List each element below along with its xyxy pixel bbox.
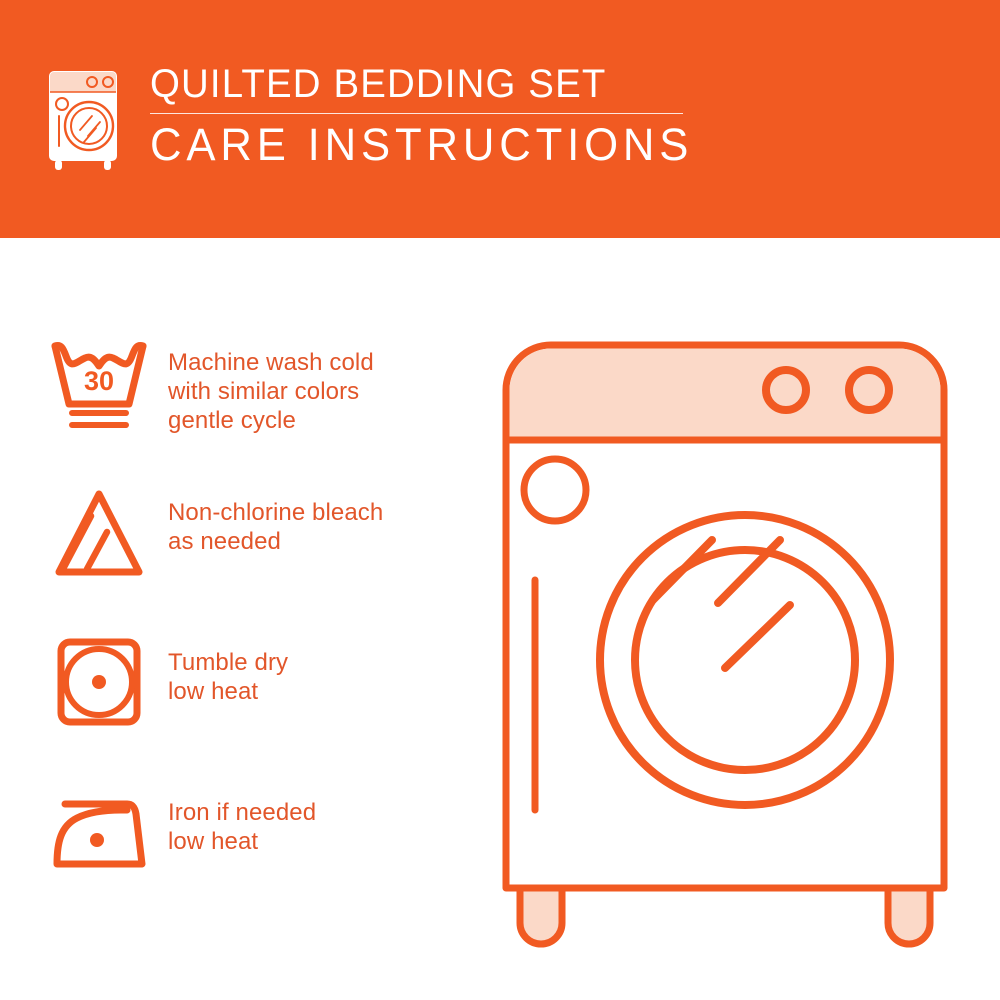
care-item-tumble-dry: Tumble dry low heat [44, 630, 474, 780]
title-block: QUILTED BEDDING SET CARE INSTRUCTIONS [150, 60, 710, 170]
header-content: QUILTED BEDDING SET CARE INSTRUCTIONS [44, 60, 710, 174]
title-divider [150, 113, 683, 114]
care-item-bleach: Non-chlorine bleach as needed [44, 480, 474, 630]
care-text-line: low heat [168, 677, 288, 706]
care-text-line: Tumble dry [168, 648, 288, 677]
care-item-machine-wash: 30 Machine wash cold with similar colors… [44, 330, 474, 480]
care-item-machine-wash-label: Machine wash cold with similar colors ge… [168, 330, 374, 435]
care-text-line: with similar colors [168, 377, 374, 406]
care-text-line: as needed [168, 527, 383, 556]
iron-low-heat-icon [44, 780, 154, 882]
wash-tub-30-gentle-icon: 30 [44, 330, 154, 432]
care-instruction-list: 30 Machine wash cold with similar colors… [44, 330, 474, 930]
page-title: QUILTED BEDDING SET [150, 62, 688, 106]
triangle-non-chlorine-bleach-icon [44, 480, 154, 582]
care-item-tumble-dry-label: Tumble dry low heat [168, 630, 288, 706]
care-instructions-infographic: QUILTED BEDDING SET CARE INSTRUCTIONS 30 [0, 0, 1000, 1000]
care-item-iron-label: Iron if needed low heat [168, 780, 316, 856]
care-text-line: Non-chlorine bleach [168, 498, 383, 527]
care-text-line: Iron if needed [168, 798, 316, 827]
control-panel [510, 349, 941, 441]
washing-machine-icon [44, 66, 128, 174]
care-item-bleach-label: Non-chlorine bleach as needed [168, 480, 383, 556]
tumble-dry-low-heat-icon [44, 630, 154, 732]
page-subtitle: CARE INSTRUCTIONS [150, 120, 693, 170]
front-load-washing-machine-illustration [490, 325, 980, 955]
care-text-line: gentle cycle [168, 406, 374, 435]
care-text-line: low heat [168, 827, 316, 856]
header-banner: QUILTED BEDDING SET CARE INSTRUCTIONS [0, 0, 1000, 238]
care-item-iron: Iron if needed low heat [44, 780, 474, 930]
wash-temperature-label: 30 [84, 366, 114, 396]
care-text-line: Machine wash cold [168, 348, 374, 377]
